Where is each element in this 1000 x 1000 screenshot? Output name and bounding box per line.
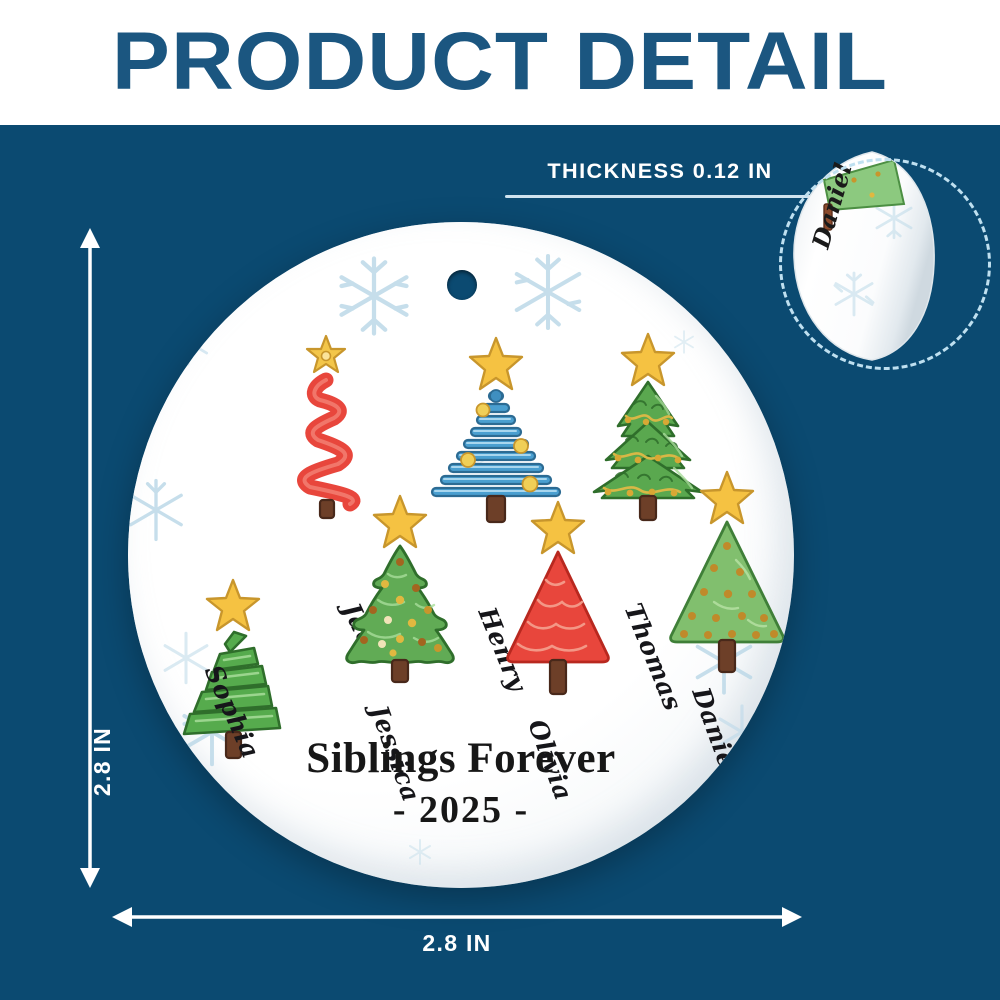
tree-olivia bbox=[488, 498, 628, 698]
header-band: PRODUCT DETAIL bbox=[0, 0, 1000, 125]
ornament-hanging-hole bbox=[447, 270, 477, 300]
ornament-front-view: Sophia Jack bbox=[128, 222, 794, 888]
height-dimension-label: 2.8 IN bbox=[89, 727, 116, 796]
magnifier-dashed-circle bbox=[779, 158, 991, 370]
ornament-tagline: Siblings Forever bbox=[128, 734, 794, 783]
star-icon bbox=[207, 580, 259, 630]
tree-daniel bbox=[652, 468, 794, 678]
width-dimension-arrow bbox=[112, 905, 802, 929]
tree-henry bbox=[416, 334, 576, 524]
page-title: PRODUCT DETAIL bbox=[0, 14, 1000, 110]
star-icon bbox=[470, 338, 522, 389]
ornament-year: - 2025 - bbox=[128, 788, 794, 832]
product-detail-image: PRODUCT DETAIL THICKNESS 0.12 IN bbox=[0, 0, 1000, 1000]
star-icon bbox=[622, 334, 674, 385]
width-dimension-label: 2.8 IN bbox=[112, 930, 802, 957]
height-dimension-arrow: 2.8 IN bbox=[70, 228, 110, 888]
star-icon bbox=[701, 472, 753, 523]
tree-jack bbox=[262, 332, 392, 517]
star-icon bbox=[307, 336, 345, 372]
